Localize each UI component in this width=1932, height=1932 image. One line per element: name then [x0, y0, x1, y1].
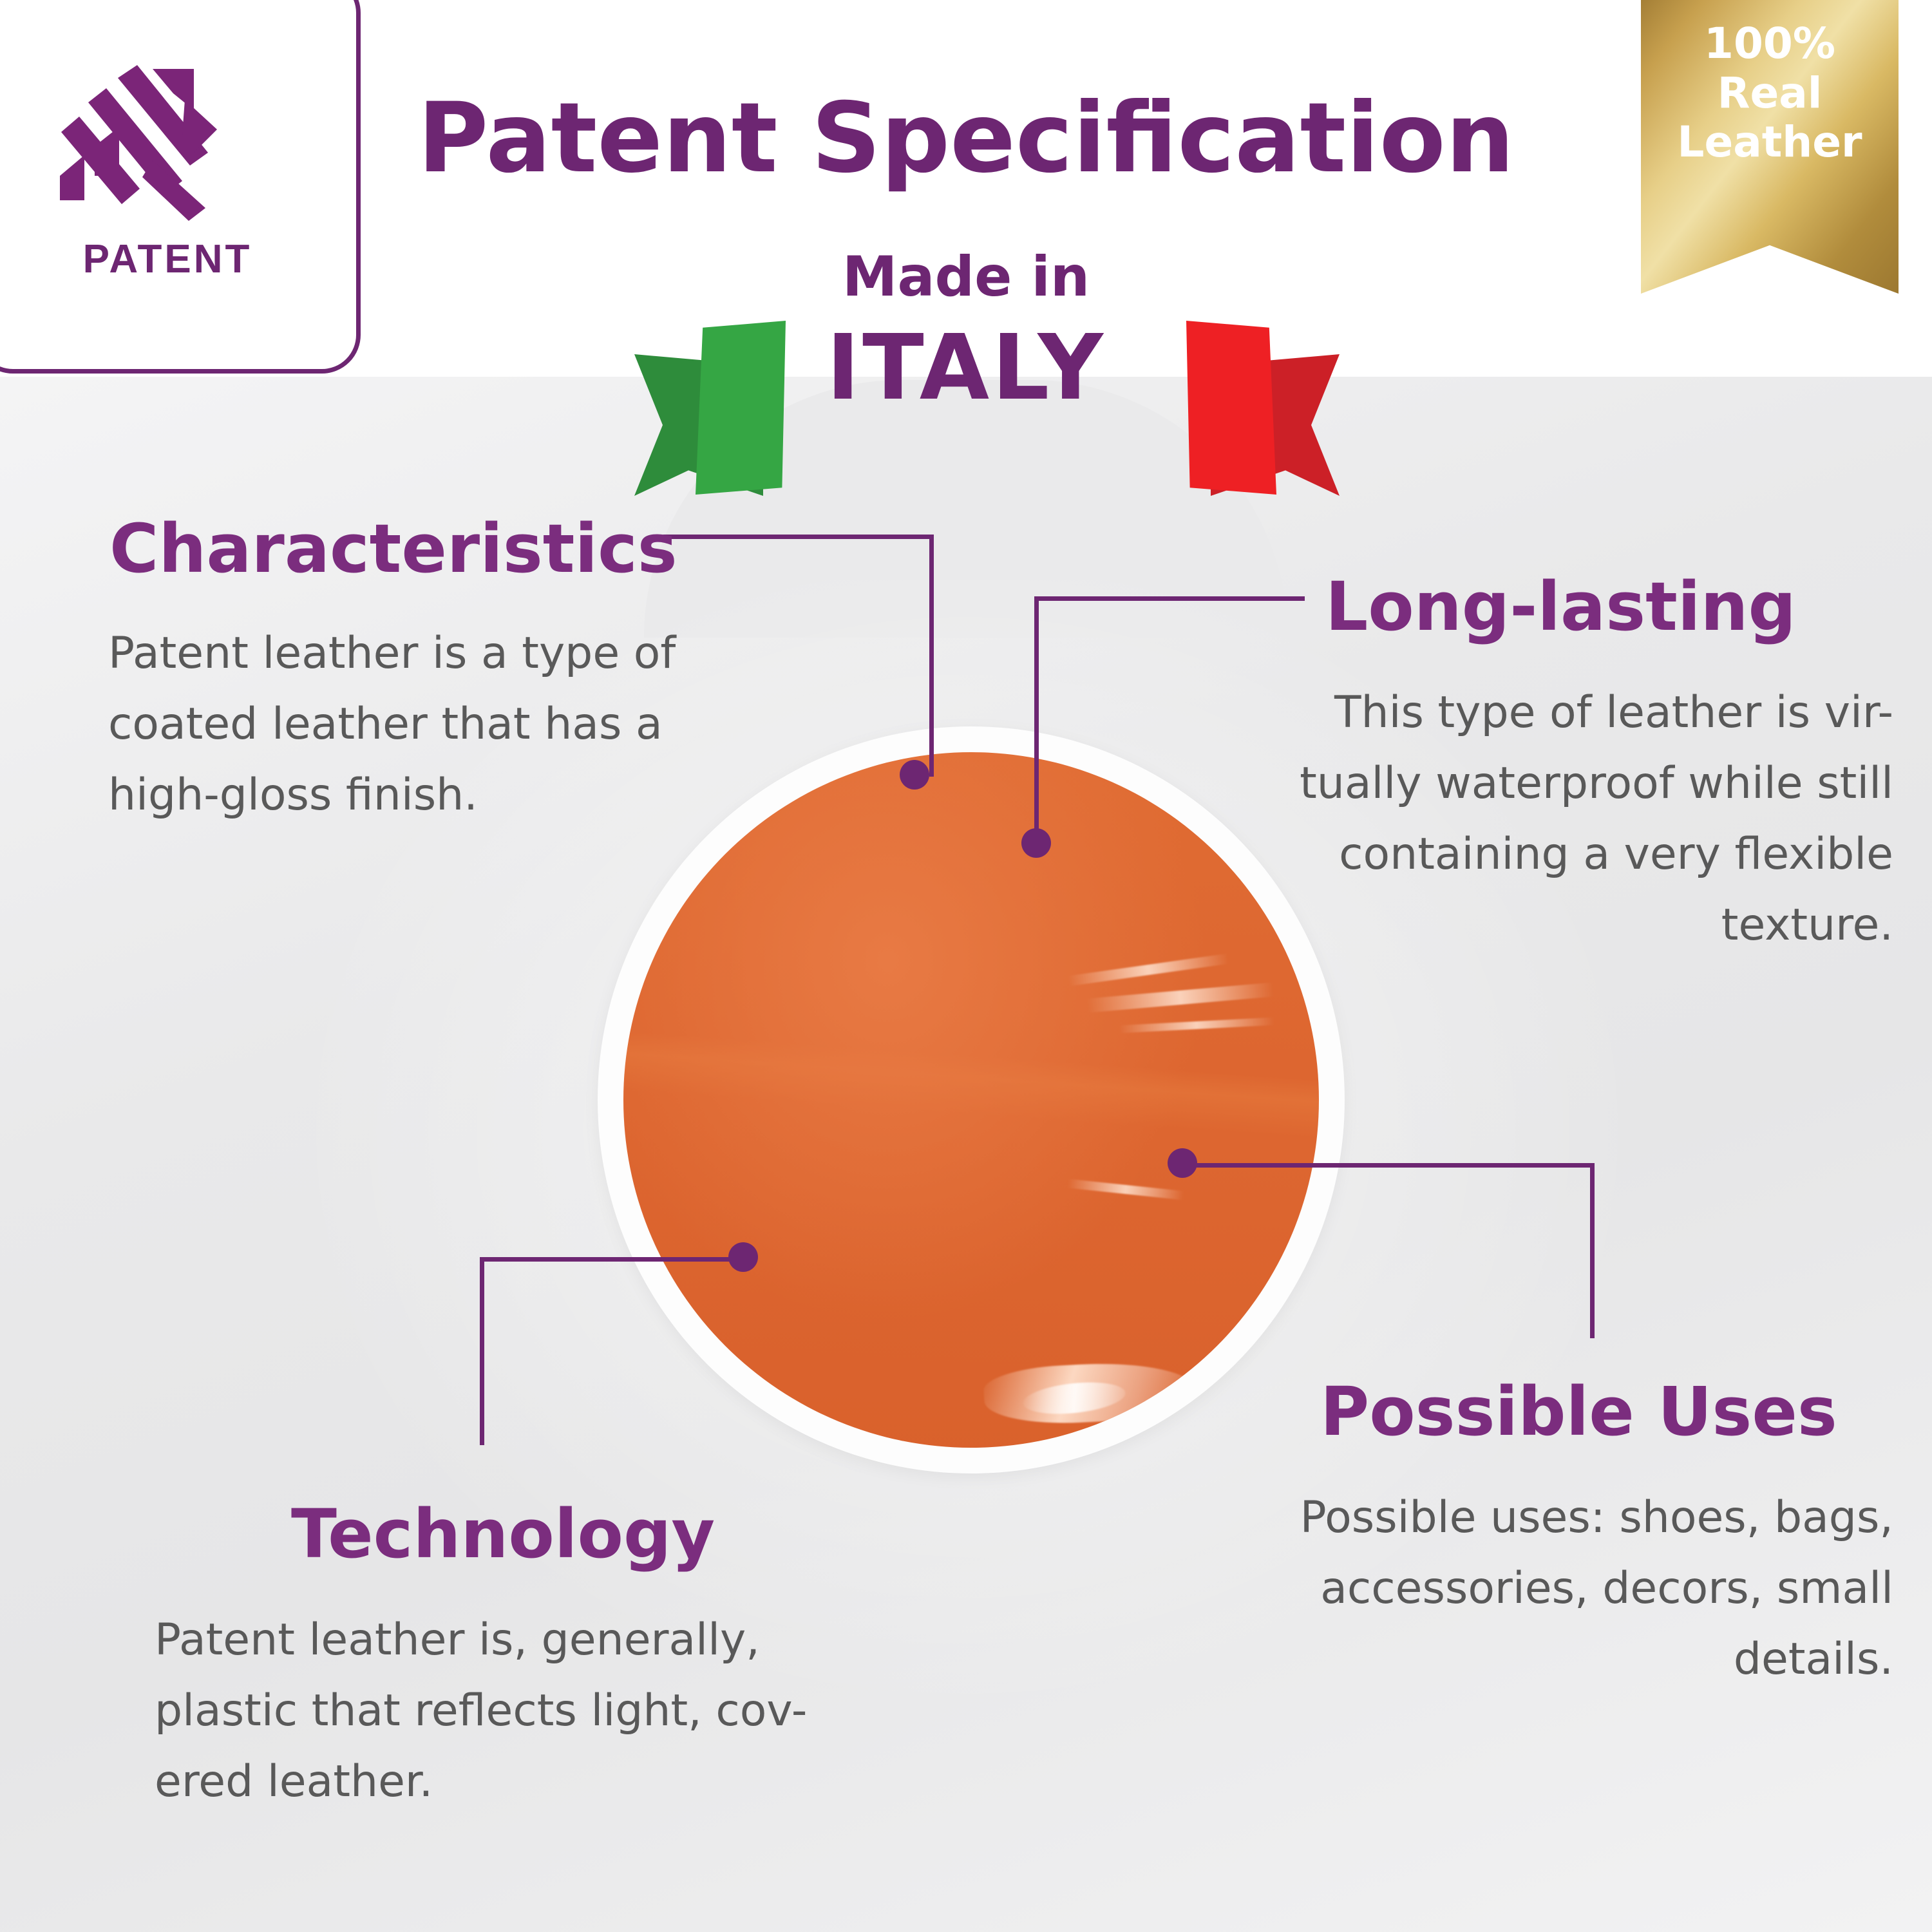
- brand-logo-card: PATENT: [0, 0, 361, 374]
- connector-dot-technology: [728, 1242, 758, 1272]
- connector-long-lasting-horizontal: [1034, 596, 1305, 601]
- page-title: Patent Specification: [399, 90, 1533, 187]
- connector-characteristics-horizontal: [663, 535, 934, 539]
- infographic-canvas: PATENT 100% Real Leather Patent Specific…: [0, 0, 1932, 1932]
- connector-technology-horizontal: [480, 1257, 750, 1262]
- patent-logo-icon: [56, 62, 236, 223]
- connector-dot-possible-uses: [1168, 1148, 1197, 1178]
- section-body-long-lasting: This type of leather is vir-tually water…: [1249, 677, 1893, 961]
- section-title-technology: Technology: [291, 1501, 715, 1567]
- section-title-possible-uses: Possible Uses: [1320, 1378, 1837, 1445]
- connector-dot-characteristics: [900, 760, 929, 790]
- badge-line-1: 100%: [1641, 19, 1899, 69]
- connector-technology-vertical: [480, 1257, 484, 1445]
- leather-sample-image: [623, 752, 1319, 1448]
- swatch-highlight: [1068, 954, 1229, 987]
- made-in-label: Made in: [399, 245, 1533, 309]
- badge-line-2: Real: [1641, 69, 1899, 118]
- section-body-technology: Patent leather is, generally, plastic th…: [155, 1605, 876, 1817]
- country-name: ITALY: [399, 316, 1533, 421]
- swatch-highlight: [1119, 1018, 1274, 1034]
- logo-wordmark: PATENT: [0, 236, 356, 282]
- swatch-highlight: [1068, 1179, 1184, 1200]
- badge-line-3: Leather: [1641, 118, 1899, 167]
- section-body-characteristics: Patent leather is a type of coated leath…: [108, 618, 688, 831]
- connector-possible-uses-vertical: [1590, 1163, 1595, 1338]
- section-body-possible-uses: Possible uses: shoes, bags, accessories,…: [1243, 1482, 1893, 1695]
- connector-possible-uses-horizontal: [1182, 1163, 1595, 1168]
- real-leather-badge-text: 100% Real Leather: [1641, 19, 1899, 167]
- section-title-characteristics: Characteristics: [109, 515, 677, 582]
- connector-characteristics-vertical: [929, 535, 934, 777]
- section-title-long-lasting: Long-lasting: [1325, 573, 1796, 640]
- connector-dot-long-lasting: [1021, 828, 1051, 858]
- connector-long-lasting-vertical: [1034, 596, 1039, 841]
- swatch-highlight: [1087, 982, 1274, 1012]
